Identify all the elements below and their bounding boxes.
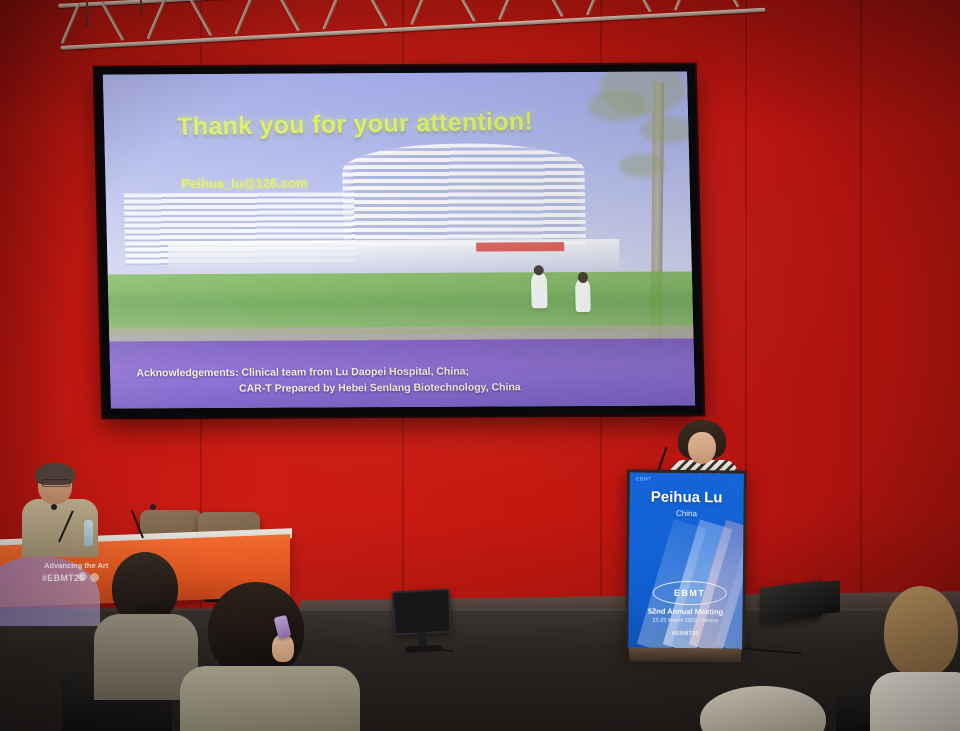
podium-corner-logo: EBMT (636, 476, 652, 482)
truss-hanger (86, 0, 88, 26)
acknowledgement-line-2: CAR-T Prepared by Hebei Senlang Biotechn… (239, 381, 521, 394)
audience-member-seated (96, 552, 192, 692)
acknowledgement-line-1: Acknowledgements: Clinical team from Lu … (136, 365, 469, 379)
eyeglasses (42, 479, 70, 487)
microphone-head (51, 504, 57, 510)
slide-acknowledgement-band: Acknowledgements: Clinical team from Lu … (109, 339, 695, 409)
presentation-slide: Acknowledgements: Clinical team from Lu … (103, 72, 695, 409)
meeting-hashtag: #EBMT26 (628, 630, 742, 637)
truss-hanger (140, 0, 142, 14)
stage-floor-speaker (806, 580, 840, 616)
podium-base (629, 647, 741, 662)
podium-name-display: EBMT Peihua Lu China EBMT 52nd Annual Me… (625, 469, 747, 652)
podium-speaker-country: China (629, 508, 743, 518)
slide-title: Thank you for your attention! (177, 107, 534, 142)
projection-screen: Acknowledgements: Clinical team from Lu … (95, 64, 704, 417)
meeting-title: 52nd Annual Meeting (628, 606, 742, 616)
conference-photo-scene: Acknowledgements: Clinical team from Lu … (0, 0, 960, 731)
audience-member-foreground (700, 686, 830, 731)
slide-person-doctor (575, 279, 591, 312)
microphone-head (150, 504, 156, 510)
audience-member-with-phone (186, 582, 346, 731)
slide-contact-email: Peihua_lu@126.com (181, 175, 308, 191)
podium-speaker-name: Peihua Lu (630, 488, 744, 506)
podium: EBMT Peihua Lu China EBMT 52nd Annual Me… (625, 469, 747, 655)
confidence-monitor (392, 589, 453, 644)
audience-member-seated-right (876, 586, 960, 731)
meeting-dates: 22-25 March 2026 | Athens (628, 617, 742, 624)
slide-person-doctor (531, 273, 548, 309)
banner-social-icon (78, 572, 87, 581)
water-bottle (84, 520, 93, 546)
